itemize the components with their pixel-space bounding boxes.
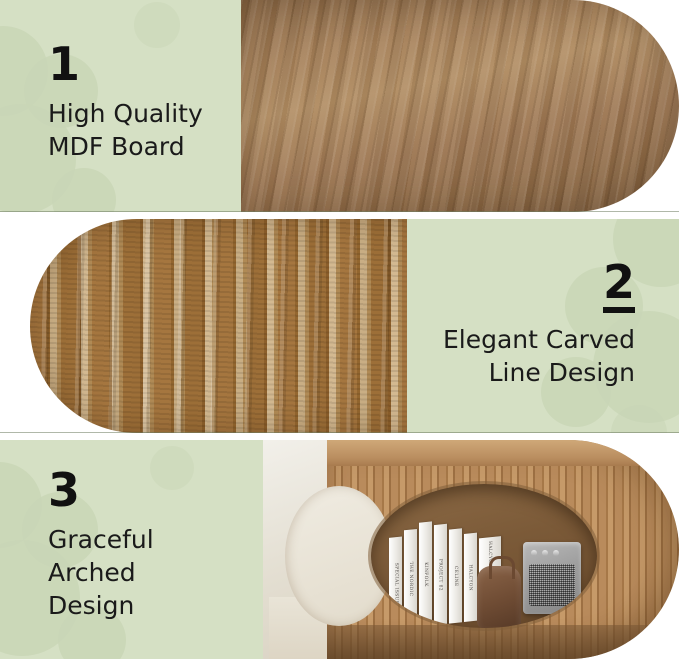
- book-spine-title: THE NORDIC: [408, 561, 413, 596]
- book-spine-title: PROJECT 82: [438, 558, 443, 591]
- panel-3-number: 3: [48, 467, 80, 513]
- cabinet-top-lip: [327, 440, 679, 466]
- book-spine-title: SPECIAL ISSUE: [393, 562, 398, 604]
- speaker-knobs: [531, 549, 573, 556]
- product-feature-infographic: 1 High Quality MDF Board 2 Elegant Carve…: [0, 0, 679, 659]
- cabinet-plinth: [327, 625, 679, 659]
- panel-1-bottom-rule: [0, 211, 679, 212]
- book-spine-title: HALCYON: [468, 564, 473, 591]
- arched-opening: SPECIAL ISSUE THE NORDIC KINFOLK PROJECT…: [371, 484, 597, 628]
- feature-panel-2: 2 Elegant Carved Line Design: [0, 219, 679, 433]
- feature-panel-3: SPECIAL ISSUE THE NORDIC KINFOLK PROJECT…: [0, 440, 679, 659]
- book-spine-title: KINFOLK: [423, 562, 428, 587]
- wood-plank-photo: [241, 0, 679, 212]
- book-spine-title: CELINE: [453, 565, 458, 586]
- grey-speaker: [523, 542, 581, 614]
- panel-2-bottom-rule: [0, 432, 679, 433]
- feature-panel-1: 1 High Quality MDF Board: [0, 0, 679, 212]
- panel-2-caption: 2 Elegant Carved Line Design: [407, 219, 679, 433]
- panel-1-headline: High Quality MDF Board: [48, 97, 207, 163]
- panel-3-caption: 3 Graceful Arched Design: [0, 440, 263, 659]
- panel-2-number: 2: [603, 259, 635, 313]
- panel-3-headline: Graceful Arched Design: [48, 523, 239, 622]
- panel-1-caption: 1 High Quality MDF Board: [0, 0, 241, 212]
- panel-1-number: 1: [48, 41, 80, 87]
- panel-2-headline: Elegant Carved Line Design: [443, 323, 635, 389]
- arched-cabinet-photo: SPECIAL ISSUE THE NORDIC KINFOLK PROJECT…: [263, 440, 679, 659]
- leather-bag: [477, 566, 521, 628]
